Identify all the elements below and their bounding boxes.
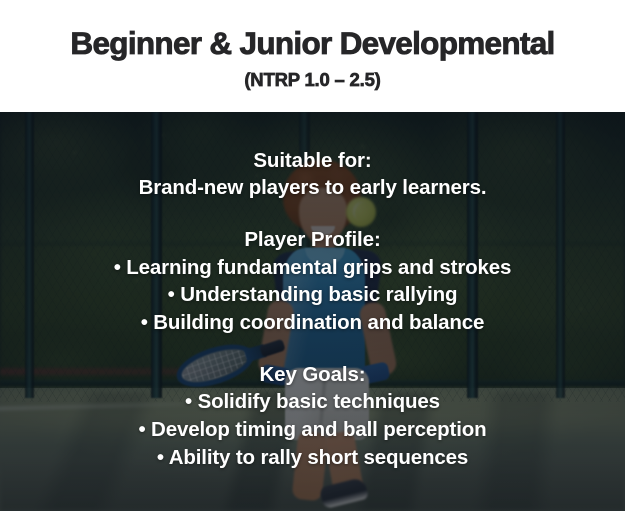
- section-line: • Ability to rally short sequences: [0, 444, 625, 472]
- section-key-goals: Key Goals: • Solidify basic techniques •…: [0, 361, 625, 472]
- section-line: • Understanding basic rallying: [0, 281, 625, 309]
- section-heading: Player Profile:: [0, 226, 625, 253]
- card-body-text: Suitable for: Brand-new players to early…: [0, 112, 625, 511]
- info-card: Beginner & Junior Developmental (NTRP 1.…: [0, 0, 625, 511]
- section-line: Brand-new players to early learners.: [0, 174, 625, 202]
- section-line: • Solidify basic techniques: [0, 388, 625, 416]
- section-suitable-for: Suitable for: Brand-new players to early…: [0, 147, 625, 202]
- page-subtitle: (NTRP 1.0 – 2.5): [244, 69, 380, 91]
- section-line: • Building coordination and balance: [0, 309, 625, 337]
- section-heading: Key Goals:: [0, 361, 625, 388]
- section-line: • Develop timing and ball perception: [0, 416, 625, 444]
- card-header: Beginner & Junior Developmental (NTRP 1.…: [0, 0, 625, 112]
- section-heading: Suitable for:: [0, 147, 625, 174]
- section-line: • Learning fundamental grips and strokes: [0, 254, 625, 282]
- page-title: Beginner & Junior Developmental: [70, 27, 554, 60]
- section-player-profile: Player Profile: • Learning fundamental g…: [0, 226, 625, 337]
